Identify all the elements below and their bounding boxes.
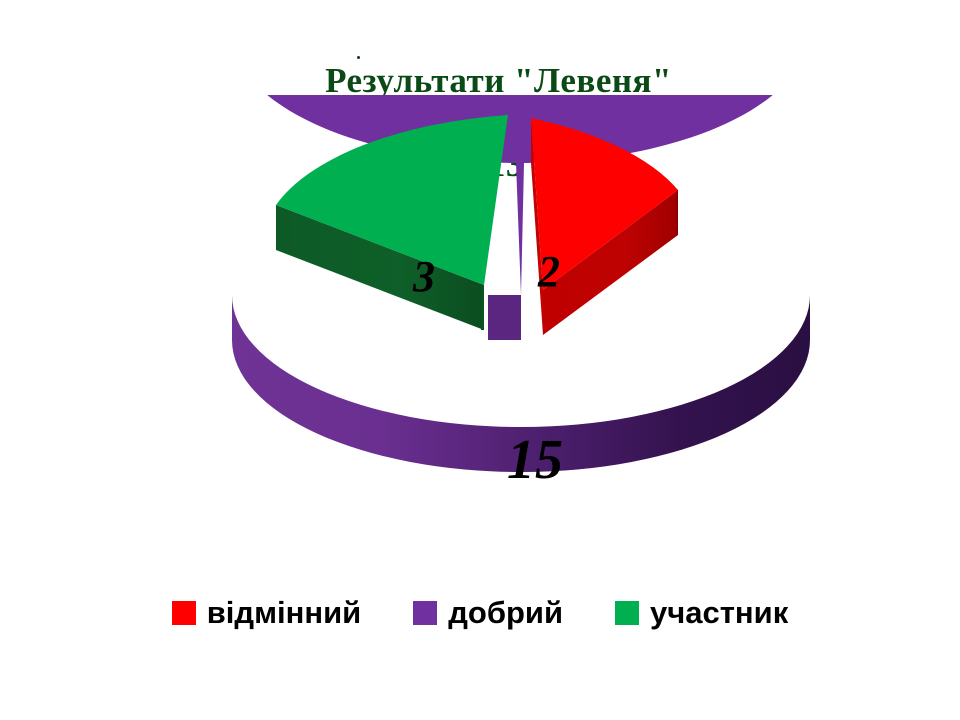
legend-swatch-icon-dobryi: [413, 601, 437, 625]
legend-item-vidminnyi[interactable]: відмінний: [172, 596, 361, 629]
pie-label-dobryi: 15: [480, 432, 590, 488]
legend-label-dobryi: добрий: [448, 596, 563, 629]
legend-label-uchasnyk: участник: [650, 596, 788, 629]
legend-item-dobryi[interactable]: добрий: [413, 596, 563, 629]
pie-slice-uchasnyk: [276, 115, 508, 330]
pie-slice-vidminnyi-right-face: [676, 190, 678, 235]
legend-swatch-icon-uchasnyk: [615, 601, 639, 625]
legend-item-uchasnyk[interactable]: участник: [615, 596, 788, 629]
pie-label-vidminnyi: 2: [519, 250, 579, 294]
title-speck-artifact: [357, 56, 360, 59]
legend-swatch-icon-vidminnyi: [172, 601, 196, 625]
pie-plot-area: 2 3 15: [0, 95, 960, 565]
pie-chart-slide: Результати "Левеня" (2012-1013 н.р.): [0, 0, 960, 720]
legend-label-vidminnyi: відмінний: [207, 596, 361, 629]
pie-label-uchasnyk: 3: [394, 255, 454, 299]
pie-slice-dobryi-left-face: [488, 295, 521, 340]
pie-chart-graphic: [0, 95, 960, 565]
pie-slice-vidminnyi: [531, 118, 678, 335]
chart-legend: відмінний добрий участник: [0, 596, 960, 629]
pie-slice-uchasnyk-right-face: [481, 285, 484, 330]
